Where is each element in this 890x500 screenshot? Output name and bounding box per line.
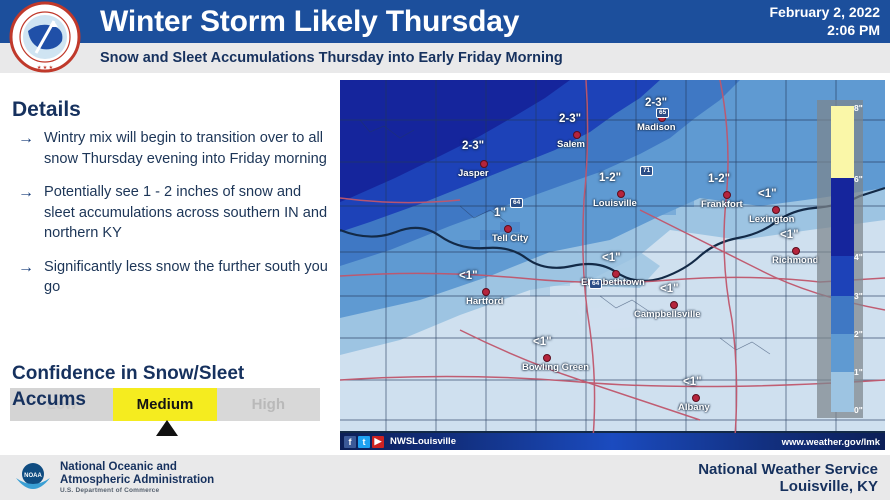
colorbar-tick-6: 6" — [854, 174, 863, 184]
confidence-heading: Confidence in Snow/Sleet — [12, 362, 332, 385]
amount-label-jasper: 2-3" — [462, 140, 484, 152]
office-location: Louisville, KY — [698, 478, 878, 495]
city-dot-campbellsville — [670, 301, 678, 309]
city-label-hartford: Hartford — [466, 296, 503, 307]
youtube-icon[interactable]: ▶ — [372, 436, 384, 448]
amount-label-salem: 2-3" — [559, 113, 581, 125]
city-label-albany: Albany — [678, 402, 710, 413]
colorbar-strip — [831, 106, 854, 412]
city-label-louisville: Louisville — [593, 198, 637, 209]
city-label-frankfort: Frankfort — [701, 199, 743, 210]
colorbar-segment-3 — [831, 296, 854, 334]
city-dot-bowling-green — [543, 354, 551, 362]
header-time: 2:06 PM — [660, 21, 880, 39]
amount-label-campbellsville: <1" — [660, 283, 679, 295]
svg-text:NOAA: NOAA — [24, 473, 42, 479]
colorbar-tick-4: 4" — [854, 252, 863, 262]
bullet-text: Potentially see 1 - 2 inches of snow and… — [44, 182, 332, 244]
colorbar-tick-3: 3" — [854, 291, 863, 301]
arrow-icon: → — [12, 182, 44, 203]
colorbar-tick-labels: 8" 6" 4" 3" 2" 1" 0" — [854, 100, 876, 418]
interstate-shield-64-south: 64 — [589, 279, 602, 289]
interstate-shield-71: 71 — [640, 166, 653, 176]
city-dot-lexington — [772, 206, 780, 214]
city-label-bowling-green: Bowling Green — [522, 362, 589, 373]
colorbar-segment-2 — [831, 334, 854, 372]
city-label-madison: Madison — [637, 122, 676, 133]
header-datetime: February 2, 2022 2:06 PM — [660, 3, 880, 39]
city-dot-frankfort — [723, 191, 731, 199]
confidence-pointer-icon — [156, 420, 178, 436]
issuing-office: National Weather Service Louisville, KY — [698, 461, 878, 495]
city-dot-albany — [692, 394, 700, 402]
interstate-shield-64: 64 — [510, 198, 523, 208]
social-handle: NWSLouisville — [390, 436, 456, 447]
svg-text:★ ★ ★: ★ ★ ★ — [37, 65, 54, 71]
noaa-agency-name: National Oceanic and Atmospheric Adminis… — [60, 461, 214, 487]
city-dot-tell-city — [504, 225, 512, 233]
bullet-text: Significantly less snow the further sout… — [44, 257, 332, 298]
amount-label-bowling-green: <1" — [533, 336, 552, 348]
amount-label-richmond: <1" — [780, 229, 799, 241]
colorbar-tick-1: 1" — [854, 367, 863, 377]
colorbar-segment-6 — [831, 178, 854, 256]
colorbar-segment-1 — [831, 372, 854, 412]
national-weather-service-seal-icon: ★ ★ ★ — [6, 1, 84, 73]
page-subtitle: Snow and Sleet Accumulations Thursday in… — [100, 45, 563, 71]
list-item: → Significantly less snow the further so… — [12, 257, 332, 298]
noaa-department: U.S. Department of Commerce — [60, 487, 159, 494]
city-dot-louisville — [617, 190, 625, 198]
arrow-icon: → — [12, 128, 44, 149]
city-label-campbellsville: Campbellsville — [634, 309, 701, 320]
noaa-line-2: Atmospheric Administration — [60, 474, 214, 487]
city-label-tell-city: Tell City — [492, 233, 528, 244]
confidence-heading-line2: Accums — [12, 389, 86, 411]
confidence-segment-medium: Medium — [113, 388, 216, 421]
city-label-richmond: Richmond — [772, 255, 818, 266]
bullet-text: Wintry mix will begin to transition over… — [44, 128, 332, 169]
amount-label-louisville: 1-2" — [599, 172, 621, 184]
facebook-icon[interactable]: f — [344, 436, 356, 448]
city-dot-salem — [573, 131, 581, 139]
details-bullet-list: → Wintry mix will begin to transition ov… — [12, 128, 332, 311]
noaa-line-1: National Oceanic and — [60, 461, 214, 474]
city-label-lexington: Lexington — [749, 214, 794, 225]
list-item: → Wintry mix will begin to transition ov… — [12, 128, 332, 169]
amount-label-albany: <1" — [683, 376, 702, 388]
noaa-logo-icon: NOAA — [14, 460, 52, 496]
amount-label-tell-city: 1" — [494, 207, 506, 219]
colorbar-legend: Storm Total Snow Amounts (in) 8" 6" 4" 3… — [817, 100, 863, 418]
amount-label-elizabethtown: <1" — [602, 252, 621, 264]
colorbar-tick-2: 2" — [854, 329, 863, 339]
interstate-shield-65: 65 — [656, 108, 669, 118]
colorbar-segment-8 — [831, 106, 854, 178]
header-date: February 2, 2022 — [660, 3, 880, 21]
twitter-icon[interactable]: t — [358, 436, 370, 448]
details-heading: Details — [12, 98, 81, 122]
city-dot-richmond — [792, 247, 800, 255]
confidence-segment-high: High — [217, 388, 320, 421]
page-title: Winter Storm Likely Thursday — [100, 1, 519, 42]
colorbar-segment-4 — [831, 256, 854, 296]
city-label-jasper: Jasper — [458, 168, 489, 179]
office-name: National Weather Service — [698, 461, 878, 478]
snow-accumulation-map[interactable]: 2-3" Jasper 2-3" Salem 2-3" Madison 1-2"… — [340, 80, 885, 450]
amount-label-hartford: <1" — [459, 270, 478, 282]
list-item: → Potentially see 1 - 2 inches of snow a… — [12, 182, 332, 244]
city-label-salem: Salem — [557, 139, 585, 150]
colorbar-tick-0: 0" — [854, 405, 863, 415]
amount-label-frankfort: 1-2" — [708, 173, 730, 185]
weather-gov-url[interactable]: www.weather.gov/lmk — [782, 437, 880, 448]
social-links[interactable]: f t ▶ NWSLouisville — [344, 435, 456, 448]
amount-label-lexington: <1" — [758, 188, 777, 200]
graphic-root: ★ ★ ★ Winter Storm Likely Thursday Febru… — [0, 0, 890, 500]
colorbar-tick-8: 8" — [854, 103, 863, 113]
arrow-icon: → — [12, 257, 44, 278]
city-dot-jasper — [480, 160, 488, 168]
city-dot-hartford — [482, 288, 490, 296]
